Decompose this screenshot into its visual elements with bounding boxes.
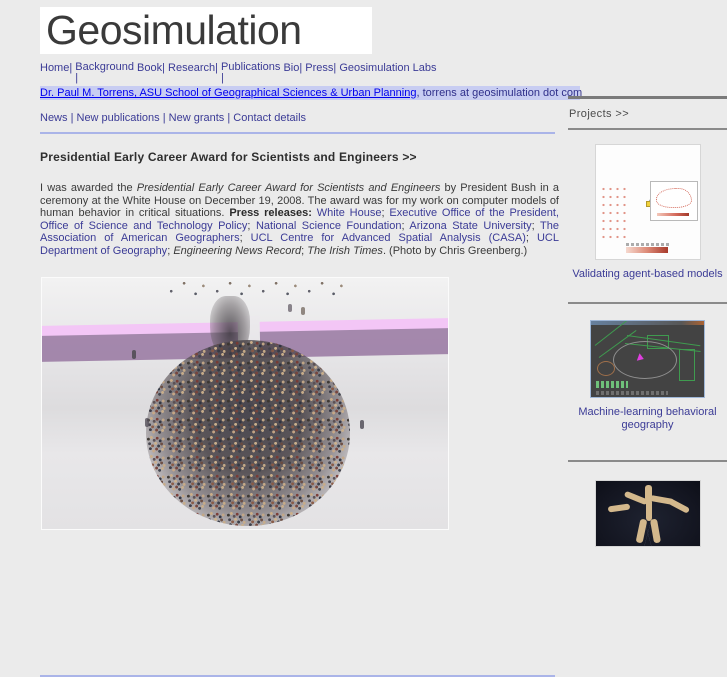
nav-item-publications[interactable]: Publications <box>221 62 280 73</box>
nav-separator: | <box>333 62 336 74</box>
award-name: Presidential Early Career Award for Scie… <box>137 182 441 194</box>
trace-arm <box>600 185 630 241</box>
nav-item-contact-details[interactable]: Contact details <box>233 112 306 124</box>
gps-trace-map-thumbnail[interactable] <box>595 144 701 260</box>
header-divider <box>40 132 555 134</box>
sidebar-top-divider <box>568 96 727 99</box>
agent-navigation-map-thumbnail[interactable] <box>590 320 705 398</box>
nav-separator: | <box>221 73 280 84</box>
nav-separator: | <box>75 73 134 84</box>
nav-separator: | <box>162 62 165 74</box>
sidebar-heading[interactable]: Projects >> <box>569 108 629 120</box>
map-inset-panel <box>650 181 698 221</box>
3d-skeleton-thumbnail[interactable] <box>595 480 701 547</box>
nav-item-book[interactable]: Book <box>137 62 162 74</box>
sidebar-project-item[interactable]: Validating agent-based models <box>568 144 727 281</box>
link-separator: ; <box>526 232 537 244</box>
skeleton-right-forearm <box>667 498 689 514</box>
inset-trace-curve <box>656 188 692 208</box>
sidebar-divider <box>568 128 727 130</box>
nav-separator: | <box>71 112 74 124</box>
byline-author-link[interactable]: Dr. Paul M. Torrens, ASU School of Geogr… <box>40 87 416 99</box>
article-text-intro: I was awarded the <box>40 182 137 194</box>
nav-item-geosimulation-labs[interactable]: Geosimulation Labs <box>339 62 436 74</box>
lone-agent <box>301 307 305 315</box>
press-link-engineering-news-record[interactable]: Engineering News Record <box>173 245 301 257</box>
press-link-white-house[interactable]: White House <box>317 207 382 219</box>
nav-item-bio[interactable]: Bio <box>283 62 299 74</box>
sidebar-caption-validating-agent-based-models[interactable]: Validating agent-based models <box>568 268 727 281</box>
nav-item-new-publications[interactable]: New publications <box>77 112 160 124</box>
nav-separator: | <box>163 112 166 124</box>
window-title-strip <box>591 321 704 325</box>
lone-agent <box>145 418 149 427</box>
lone-agent <box>360 420 364 429</box>
press-link-nsf[interactable]: National Science Foundation <box>256 220 402 232</box>
crowd-simulation-image[interactable] <box>41 277 449 530</box>
lone-agent <box>288 304 292 312</box>
sidebar-divider <box>568 460 727 462</box>
ground-grid <box>596 520 700 546</box>
nav-group-background: Background| <box>75 62 134 84</box>
press-link-asu[interactable]: Arizona State University <box>409 220 531 232</box>
primary-navigation: Home| Background| Book| Research| Public… <box>40 62 570 84</box>
nav-separator: | <box>215 62 218 74</box>
press-releases-label: Press releases: <box>229 207 312 219</box>
nav-separator: | <box>299 62 302 74</box>
inset-legend-bar <box>657 213 689 216</box>
nav-item-home[interactable]: Home <box>40 62 69 74</box>
crowd-stragglers <box>162 278 352 324</box>
crowd-agents <box>146 340 350 526</box>
nav-item-new-grants[interactable]: New grants <box>169 112 225 124</box>
page-title: Geosimulation <box>46 6 302 54</box>
nav-item-press[interactable]: Press <box>305 62 333 74</box>
nav-item-research[interactable]: Research <box>168 62 215 74</box>
press-link-casa[interactable]: UCL Centre for Advanced Spatial Analysis… <box>251 232 526 244</box>
sidebar-project-item[interactable]: Machine-learning behavioral geography <box>568 320 727 432</box>
secondary-navigation: News | New publications | New grants | C… <box>40 112 306 125</box>
photo-credit: . (Photo by Chris Greenberg.) <box>383 245 527 257</box>
article-body: I was awarded the Presidential Early Car… <box>40 182 559 258</box>
overlay-label <box>596 381 628 388</box>
agent-path-ellipse <box>613 341 677 379</box>
nav-separator: | <box>227 112 230 124</box>
press-link-irish-times[interactable]: The Irish Times <box>307 245 383 257</box>
nav-item-news[interactable]: News <box>40 112 68 124</box>
link-separator: ; <box>240 232 251 244</box>
overlay-status-text <box>596 391 668 395</box>
byline: Dr. Paul M. Torrens, ASU School of Geogr… <box>40 86 580 100</box>
secondary-region-ellipse <box>597 361 615 376</box>
building-outline <box>679 349 695 381</box>
link-separator: ; <box>247 220 256 232</box>
nav-group-publications: Publications| <box>221 62 280 84</box>
lone-agent <box>132 350 136 359</box>
map-legend-bar <box>626 247 668 253</box>
sidebar-caption-machine-learning-behavioral-geography[interactable]: Machine-learning behavioral geography <box>568 406 727 432</box>
skeleton-left-forearm <box>607 503 630 512</box>
sidebar-project-item[interactable] <box>568 480 727 547</box>
link-separator: ; <box>532 220 540 232</box>
article-title[interactable]: Presidential Early Career Award for Scie… <box>40 150 417 164</box>
nav-separator: | <box>69 62 72 74</box>
nav-item-background[interactable]: Background <box>75 62 134 73</box>
map-legend-label <box>626 243 670 246</box>
byline-email: , torrens at geosimulation dot com <box>416 87 582 99</box>
sidebar-divider <box>568 302 727 304</box>
